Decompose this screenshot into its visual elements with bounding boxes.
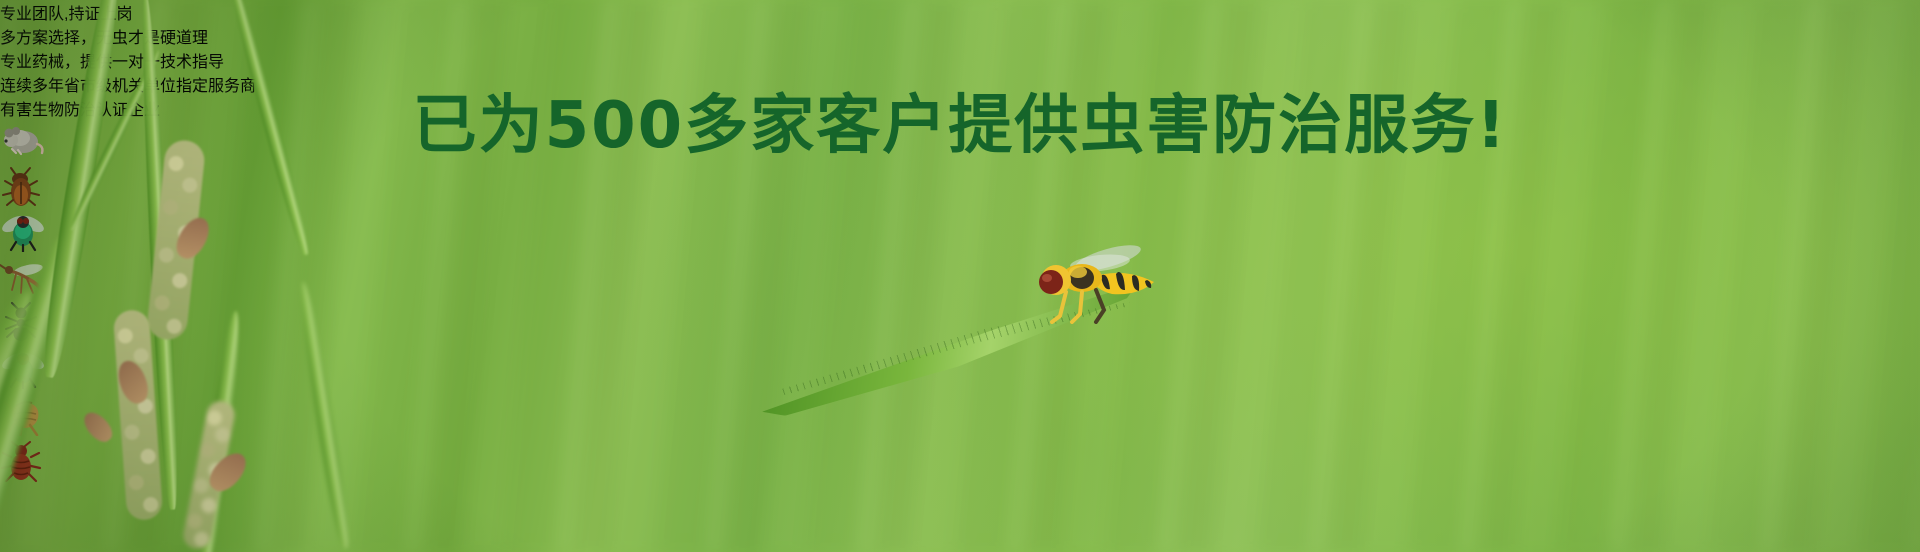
vignette-overlay [0, 0, 1920, 552]
promo-banner: 已为500多家客户提供虫害防治服务! 专业团队,持证上岗 多方案选择，无虫才是硬… [0, 0, 1920, 552]
